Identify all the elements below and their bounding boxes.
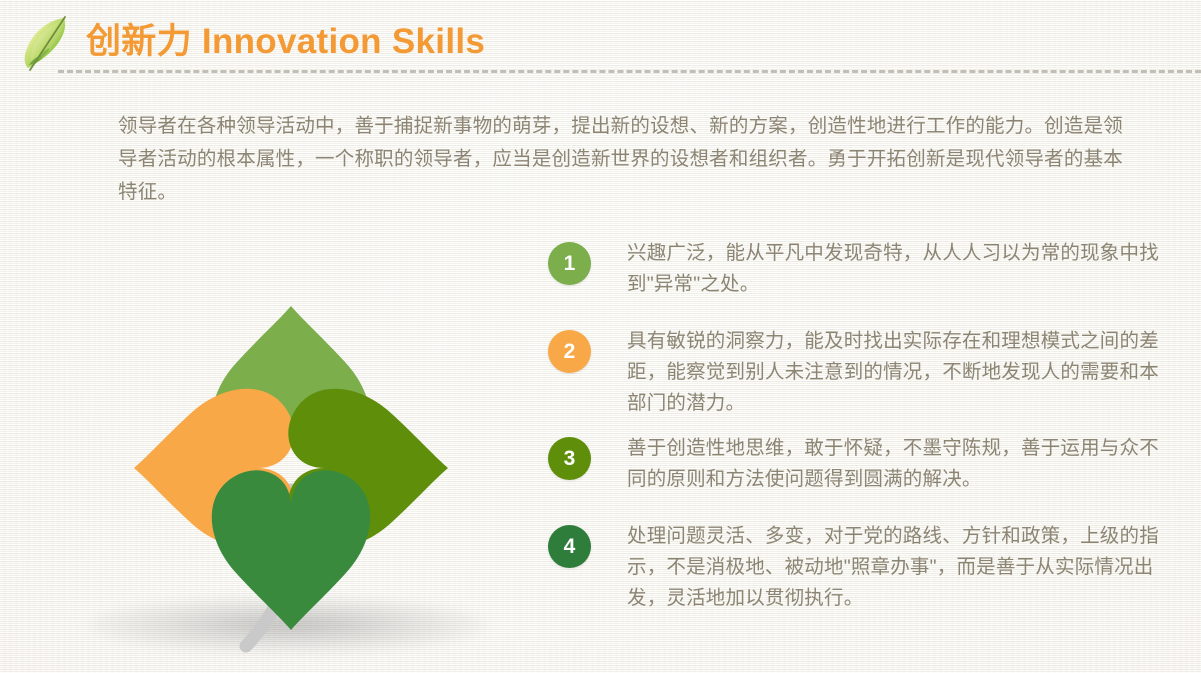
page-title: 创新力 Innovation Skills (86, 20, 485, 64)
point-text-1: 兴趣广泛，能从平凡中发现奇特，从人人习以为常的现象中找到"异常"之处。 (627, 238, 1168, 300)
list-item: 3 善于创造性地思维，敢于怀疑，不墨守陈规，善于运用与众不同的原则和方法使问题得… (548, 433, 1168, 495)
slide-canvas: 创新力 Innovation Skills 领导者在各种领导活动中，善于捕捉新事… (0, 0, 1201, 673)
list-item: 2 具有敏锐的洞察力，能及时找出实际存在和理想模式之间的差距，能察觉到别人未注意… (548, 326, 1168, 419)
points-list: 1 兴趣广泛，能从平凡中发现奇特，从人人习以为常的现象中找到"异常"之处。 2 … (548, 238, 1168, 632)
point-badge-4: 4 (548, 525, 591, 568)
four-leaf-clover-illustration (78, 228, 498, 658)
header-dashed-divider (58, 70, 1201, 73)
slide-header: 创新力 Innovation Skills (0, 0, 1201, 92)
intro-paragraph: 领导者在各种领导活动中，善于捕捉新事物的萌芽，提出新的设想、新的方案，创造性地进… (118, 110, 1123, 209)
point-text-3: 善于创造性地思维，敢于怀疑，不墨守陈规，善于运用与众不同的原则和方法使问题得到圆… (627, 433, 1168, 495)
feather-icon (18, 14, 90, 76)
point-badge-2: 2 (548, 330, 591, 373)
point-badge-3: 3 (548, 437, 591, 480)
list-item: 4 处理问题灵活、多变，对于党的路线、方针和政策，上级的指示，不是消极地、被动地… (548, 521, 1168, 614)
point-text-4: 处理问题灵活、多变，对于党的路线、方针和政策，上级的指示，不是消极地、被动地"照… (627, 521, 1168, 614)
point-badge-1: 1 (548, 242, 591, 285)
list-item: 1 兴趣广泛，能从平凡中发现奇特，从人人习以为常的现象中找到"异常"之处。 (548, 238, 1168, 300)
point-text-2: 具有敏锐的洞察力，能及时找出实际存在和理想模式之间的差距，能察觉到别人未注意到的… (627, 326, 1168, 419)
four-leaf-clover-icon (78, 228, 498, 658)
